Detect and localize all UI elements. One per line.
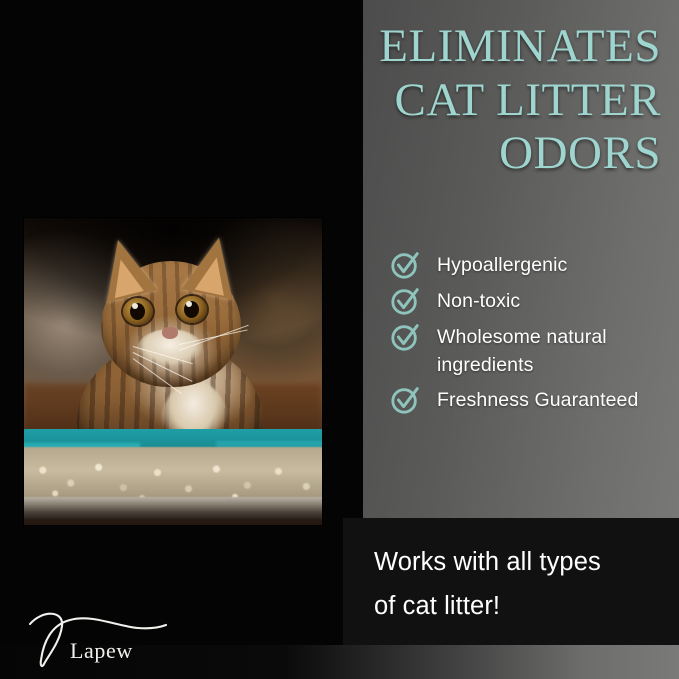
feature-item: Wholesome natural ingredients bbox=[390, 322, 670, 379]
check-circle-icon bbox=[390, 250, 420, 280]
callout-line-1: Works with all types bbox=[374, 540, 664, 584]
feature-item: Hypoallergenic bbox=[390, 250, 670, 280]
product-advertisement: ELIMINATES CAT LITTER ODORS bbox=[0, 0, 679, 679]
brand-logo: Lapew bbox=[20, 608, 180, 670]
check-circle-icon bbox=[390, 385, 420, 415]
product-photo bbox=[24, 218, 322, 525]
feature-list: Hypoallergenic Non-toxic Wholesome natur… bbox=[390, 250, 670, 421]
headline-line-1: ELIMINATES bbox=[281, 20, 661, 74]
kitten-eye-glint-left bbox=[132, 303, 138, 309]
litter-box-front-edge bbox=[24, 497, 322, 519]
feature-label: Wholesome natural ingredients bbox=[437, 322, 670, 379]
brand-wordmark: Lapew bbox=[70, 638, 133, 664]
feature-label: Non-toxic bbox=[437, 286, 520, 315]
check-circle-icon bbox=[390, 322, 420, 352]
kitten-eye-glint-right bbox=[186, 301, 192, 307]
callout-line-2: of cat litter! bbox=[374, 584, 664, 628]
feature-label: Hypoallergenic bbox=[437, 250, 567, 279]
feature-item: Freshness Guaranteed bbox=[390, 385, 670, 415]
feature-item: Non-toxic bbox=[390, 286, 670, 316]
check-circle-icon bbox=[390, 286, 420, 316]
headline-line-3: ODORS bbox=[281, 127, 661, 181]
kitten-nose bbox=[162, 327, 178, 339]
headline: ELIMINATES CAT LITTER ODORS bbox=[281, 20, 661, 181]
headline-line-2: CAT LITTER bbox=[281, 74, 661, 128]
callout-banner: Works with all types of cat litter! bbox=[343, 518, 679, 645]
feature-label: Freshness Guaranteed bbox=[437, 385, 638, 414]
callout-text: Works with all types of cat litter! bbox=[374, 540, 664, 628]
